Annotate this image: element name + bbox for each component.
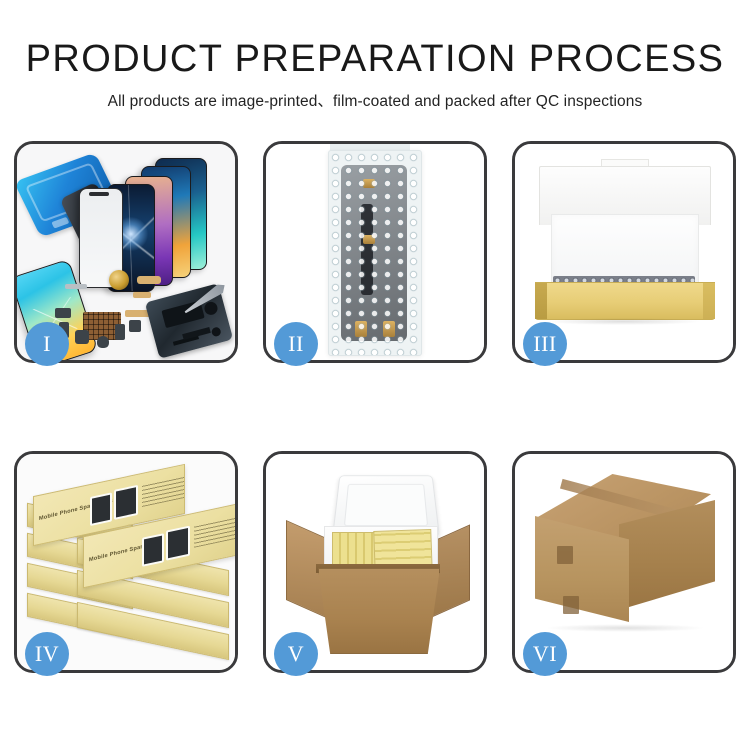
process-step-3[interactable]: III [512,141,736,363]
carton-body [318,568,440,654]
small-part-chip-1 [55,308,71,318]
wrapped-lcd-part [341,165,407,341]
box-spec-lines-a [142,476,184,507]
process-step-5[interactable]: V [263,451,487,673]
white-foam-sheet [551,214,699,284]
box-spec-lines-b [194,517,235,548]
product-preparation-process-page: PRODUCT PREPARATION PROCESS All products… [0,0,750,750]
small-part-connector [65,284,87,289]
header: PRODUCT PREPARATION PROCESS All products… [0,36,750,111]
small-part-button [97,336,109,348]
bubble-wrap-bag [328,150,422,356]
speaker-module [109,270,129,290]
gold-connector-top [363,179,375,188]
tape-piece-lower [563,596,579,614]
step-4-badge: IV [25,632,69,676]
small-part-vibrator [115,324,125,340]
carton-shadow [545,624,705,632]
small-part-camera [75,330,89,344]
gold-connector-mid [363,235,375,244]
box-thumb-b1 [142,533,164,567]
process-step-grid: I II [14,141,736,673]
flex-cable-strip [361,204,373,296]
kraft-box-front [535,282,715,320]
step-3-badge: III [523,322,567,366]
box-thumb-a2 [114,485,138,520]
process-step-2[interactable]: II [263,141,487,363]
page-title: PRODUCT PREPARATION PROCESS [0,36,750,82]
flex-cable-1 [137,276,161,284]
mailer-box [529,166,719,334]
process-step-4[interactable]: Mobile Phone Spare Parts Mobile Phone Sp… [14,451,238,673]
sealed-carton [531,474,723,646]
gold-connector-right [383,321,395,337]
export-carton-open [286,472,470,654]
step-6-badge: VI [523,632,567,676]
step-5-badge: V [274,632,318,676]
box-shadow [547,318,699,325]
box-thumb-a1 [90,492,112,526]
tape-piece-upper [557,546,573,564]
step-1-badge: I [25,322,69,366]
gold-connector-left [355,321,367,337]
page-subtitle: All products are image-printed、film-coat… [0,89,750,111]
box-thumb-b2 [166,526,190,561]
phone-fan-group [101,154,235,289]
small-part-chip-3 [129,320,141,332]
flex-cable-2 [133,292,151,298]
step-2-badge: II [274,322,318,366]
process-step-6[interactable]: VI [512,451,736,673]
process-step-1[interactable]: I [14,141,238,363]
